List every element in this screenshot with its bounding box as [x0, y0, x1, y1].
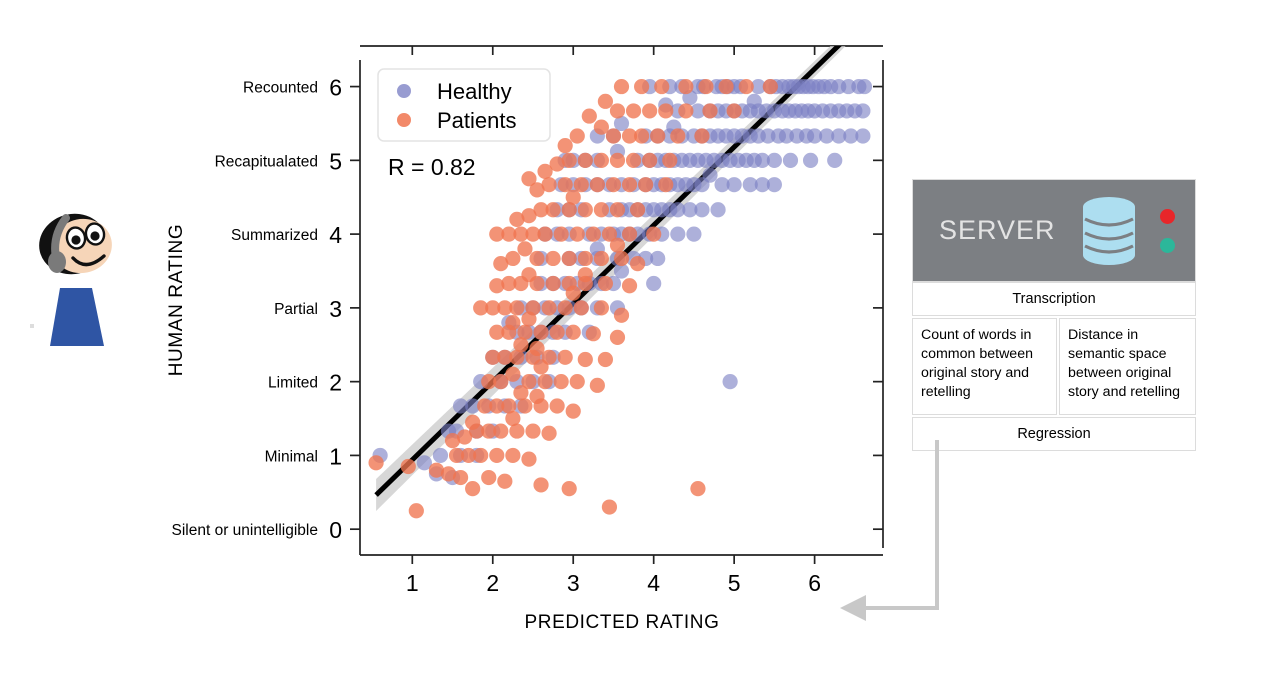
data-point [401, 459, 416, 474]
data-point [558, 300, 573, 315]
data-point [610, 202, 625, 217]
data-point [594, 300, 609, 315]
data-point [477, 398, 492, 413]
data-point [598, 352, 613, 367]
data-point [409, 503, 424, 518]
data-point [783, 153, 798, 168]
data-point [541, 426, 556, 441]
data-point [566, 404, 581, 419]
x-tick-label: 4 [647, 570, 660, 596]
data-point [630, 202, 645, 217]
data-point [678, 103, 693, 118]
data-point [594, 120, 609, 135]
data-point [465, 481, 480, 496]
y-tick-word: Limited [268, 375, 318, 392]
data-point [533, 477, 548, 492]
data-point [662, 153, 677, 168]
data-point [537, 164, 552, 179]
data-point [509, 212, 524, 227]
data-point [533, 398, 548, 413]
data-point [690, 481, 705, 496]
data-point [702, 167, 717, 182]
data-point [481, 374, 496, 389]
data-point [558, 177, 573, 192]
data-point [610, 238, 625, 253]
data-point [670, 227, 685, 242]
server-status-dots [1160, 209, 1175, 253]
regression-label: Regression [1017, 426, 1090, 442]
data-point [590, 177, 605, 192]
data-point [634, 79, 649, 94]
data-point [473, 300, 488, 315]
x-axis-title: PREDICTED RATING [524, 612, 719, 633]
data-point [857, 79, 872, 94]
data-point [650, 251, 665, 266]
data-point [445, 433, 460, 448]
data-point [453, 398, 468, 413]
y-tick-word: Partial [274, 301, 318, 318]
legend-label-healthy: Healthy [437, 79, 512, 104]
x-tick-label: 2 [486, 570, 499, 596]
data-point [719, 79, 734, 94]
legend-marker-patients [397, 113, 411, 127]
data-point [533, 359, 548, 374]
data-point [598, 276, 613, 291]
data-point [694, 202, 709, 217]
data-point [694, 128, 709, 143]
data-point [529, 182, 544, 197]
data-point [646, 276, 661, 291]
y-tick-word: Silent or unintelligible [172, 522, 318, 539]
data-point [630, 256, 645, 271]
data-point [489, 325, 504, 340]
data-point [654, 79, 669, 94]
data-point [525, 423, 540, 438]
feature-left-label: Count of words in common between origina… [921, 327, 1033, 400]
server-header: SERVER [912, 179, 1196, 282]
data-point [521, 311, 536, 326]
data-point [513, 385, 528, 400]
data-point [566, 325, 581, 340]
data-point [658, 177, 673, 192]
data-point [517, 398, 532, 413]
y-tick-word: Recounted [243, 80, 318, 97]
scatter-chart: 1234560Silent or unintelligible1Minimal2… [0, 0, 910, 660]
connector-elbow-line [866, 440, 937, 608]
database-cylinder-icon [1078, 195, 1140, 267]
data-point [574, 177, 589, 192]
data-point [578, 153, 593, 168]
data-point [489, 448, 504, 463]
data-point [698, 79, 713, 94]
data-point [614, 251, 629, 266]
data-point [642, 103, 657, 118]
data-point [606, 128, 621, 143]
data-point [517, 241, 532, 256]
data-point [481, 470, 496, 485]
data-point [586, 227, 601, 242]
data-point [763, 79, 778, 94]
data-point [610, 330, 625, 345]
y-tick-word: Recapitualated [215, 153, 318, 170]
data-point [803, 153, 818, 168]
data-point [489, 227, 504, 242]
data-point [550, 398, 565, 413]
data-point [650, 128, 665, 143]
data-point [590, 378, 605, 393]
data-point [598, 94, 613, 109]
chart-legend[interactable]: Healthy Patients [378, 69, 550, 141]
data-point [509, 423, 524, 438]
data-point [537, 374, 552, 389]
pipeline-panel: SERVER Transcription Count of words in c… [912, 179, 1196, 453]
data-point [634, 128, 649, 143]
data-point [594, 202, 609, 217]
data-point [485, 350, 500, 365]
data-point [855, 128, 870, 143]
data-point [678, 79, 693, 94]
data-point [578, 251, 593, 266]
data-point [578, 352, 593, 367]
row-transcription[interactable]: Transcription [912, 282, 1196, 316]
x-tick-label: 6 [808, 570, 821, 596]
figure-canvas: 1234560Silent or unintelligible1Minimal2… [0, 0, 1280, 682]
data-point [614, 308, 629, 323]
data-point [594, 153, 609, 168]
data-point [727, 177, 742, 192]
legend-marker-healthy [397, 84, 411, 98]
status-dot-red [1160, 209, 1175, 224]
data-point [562, 202, 577, 217]
data-point [541, 300, 556, 315]
x-tick-label: 3 [567, 570, 580, 596]
data-point [702, 103, 717, 118]
scatter-points-layer [368, 79, 872, 518]
correlation-annotation: R = 0.82 [388, 154, 476, 180]
data-point [767, 153, 782, 168]
data-point [622, 177, 637, 192]
data-point [586, 326, 601, 341]
data-point [570, 227, 585, 242]
data-point [554, 374, 569, 389]
data-point [739, 79, 754, 94]
y-tick-number: 6 [329, 75, 342, 101]
y-tick-number: 2 [329, 370, 342, 396]
data-point [767, 177, 782, 192]
data-point [610, 103, 625, 118]
data-point [626, 103, 641, 118]
data-point [622, 278, 637, 293]
feature-cell-word-count[interactable]: Count of words in common between origina… [912, 318, 1057, 415]
data-point [686, 227, 701, 242]
data-point [723, 374, 738, 389]
server-label: SERVER [939, 215, 1056, 246]
data-point [533, 325, 548, 340]
data-point [594, 251, 609, 266]
data-point [550, 325, 565, 340]
data-point [747, 94, 762, 109]
data-point [562, 251, 577, 266]
data-point [606, 177, 621, 192]
data-point [646, 227, 661, 242]
data-point [449, 448, 464, 463]
data-point [658, 103, 673, 118]
x-tick-label: 5 [728, 570, 741, 596]
data-point [570, 374, 585, 389]
y-tick-word: Summarized [231, 227, 318, 244]
data-point [562, 481, 577, 496]
data-point [554, 227, 569, 242]
data-point [614, 79, 629, 94]
data-point [558, 138, 573, 153]
data-point [827, 153, 842, 168]
data-point [453, 470, 468, 485]
x-tick-label: 1 [406, 570, 419, 596]
y-tick-word: Minimal [265, 448, 318, 465]
feature-cell-semantic-distance[interactable]: Distance in semantic space between origi… [1059, 318, 1196, 415]
data-point [638, 177, 653, 192]
data-point [566, 286, 581, 301]
data-point [642, 153, 657, 168]
data-point [570, 128, 585, 143]
data-point [710, 202, 725, 217]
data-point [493, 256, 508, 271]
transcription-label: Transcription [1012, 291, 1095, 307]
panel-to-chart-arrow [830, 440, 1020, 630]
data-point [433, 448, 448, 463]
y-tick-number: 3 [329, 296, 342, 322]
data-point [505, 448, 520, 463]
data-point [610, 153, 625, 168]
data-point [578, 202, 593, 217]
data-point [727, 103, 742, 118]
data-point [574, 300, 589, 315]
connector-arrowhead [840, 595, 866, 621]
y-tick-number: 0 [329, 517, 342, 543]
data-point [578, 276, 593, 291]
data-point [546, 251, 561, 266]
y-axis-title: HUMAN RATING [166, 224, 187, 377]
data-point [489, 278, 504, 293]
data-point [368, 455, 383, 470]
y-tick-number: 5 [329, 148, 342, 174]
feature-right-label: Distance in semantic space between origi… [1068, 327, 1180, 400]
data-point [521, 452, 536, 467]
data-point [670, 128, 685, 143]
data-point [622, 227, 637, 242]
data-point [855, 103, 870, 118]
data-point [626, 153, 641, 168]
legend-label-patients: Patients [437, 108, 517, 133]
status-dot-green [1160, 238, 1175, 253]
data-point [497, 474, 512, 489]
data-point [529, 276, 544, 291]
data-point [602, 499, 617, 514]
y-tick-number: 4 [329, 222, 342, 248]
data-point [558, 350, 573, 365]
data-point [582, 108, 597, 123]
data-point [529, 251, 544, 266]
data-point [546, 276, 561, 291]
y-tick-number: 1 [329, 443, 342, 469]
